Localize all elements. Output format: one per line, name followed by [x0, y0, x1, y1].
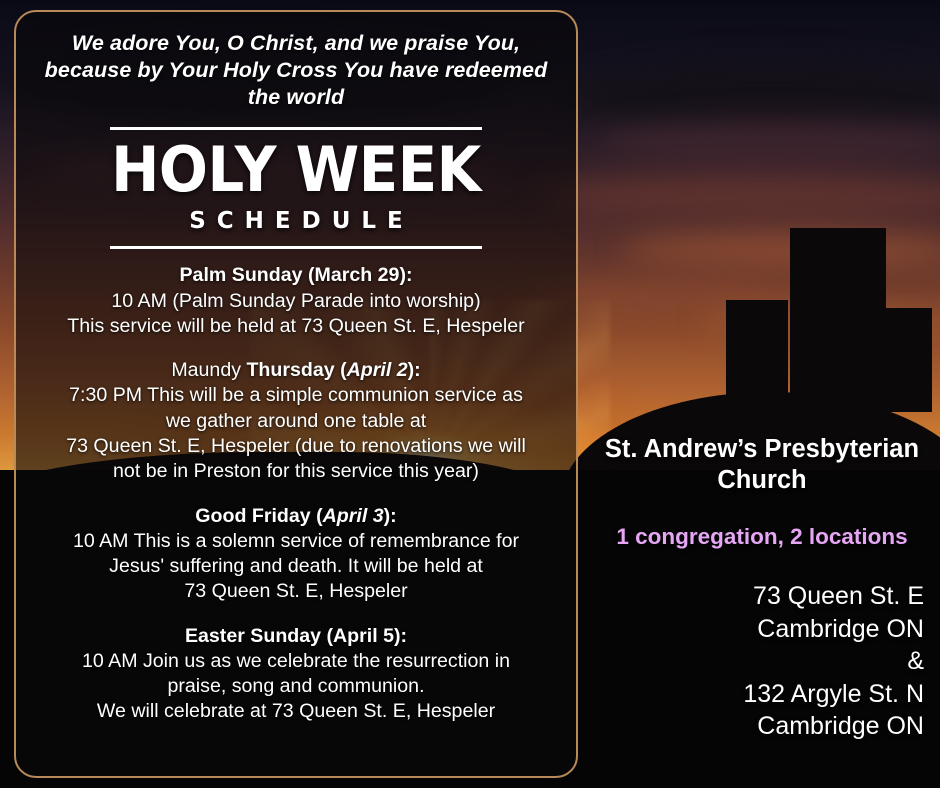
entry-heading-bold-end: ): [384, 505, 397, 527]
entry-heading-bold: Thursday ( [246, 359, 346, 381]
cross-center-icon [790, 228, 886, 408]
entry-line: 73 Queen St. E, Hespeler [32, 579, 560, 604]
page-subtitle: SCHEDULE [26, 208, 566, 234]
schedule-card: We adore You, O Christ, and we praise Yo… [14, 10, 578, 778]
church-name-line1: St. Andrew’s Presbyterian [592, 434, 932, 465]
schedule-entry-easter-sunday: Easter Sunday (April 5): 10 AM Join us a… [32, 624, 560, 725]
address-separator: & [592, 645, 924, 678]
entry-line: 7:30 PM This will be a simple communion … [32, 383, 560, 408]
entry-heading-italic: April 2 [347, 359, 408, 381]
entry-line: not be in Preston for this service this … [32, 459, 560, 484]
schedule-list: Palm Sunday (March 29): 10 AM (Palm Sund… [26, 263, 566, 724]
entry-heading-plain: Maundy [171, 359, 246, 381]
entry-heading: Maundy Thursday (April 2): [32, 358, 560, 383]
address-line: Cambridge ON [592, 613, 924, 646]
cross-right-icon [874, 308, 932, 412]
cross-left-icon [726, 300, 788, 412]
address-line: 132 Argyle St. N [592, 678, 924, 711]
entry-line: we gather around one table at [32, 409, 560, 434]
entry-heading-bold: Good Friday ( [195, 505, 322, 527]
church-info: St. Andrew’s Presbyterian Church 1 congr… [592, 434, 932, 743]
divider-bottom [110, 246, 482, 249]
entry-heading: Good Friday (April 3): [32, 504, 560, 529]
entry-heading-bold-end: ): [408, 359, 421, 381]
entry-line: 10 AM Join us as we celebrate the resurr… [32, 649, 560, 674]
divider-top [110, 127, 482, 130]
entry-line: 10 AM (Palm Sunday Parade into worship) [32, 289, 560, 314]
address-block: 73 Queen St. E Cambridge ON & 132 Argyle… [592, 580, 932, 743]
entry-line: praise, song and communion. [32, 674, 560, 699]
address-line: 73 Queen St. E [592, 580, 924, 613]
page-title: HOLY WEEK [45, 140, 547, 201]
schedule-entry-palm-sunday: Palm Sunday (March 29): 10 AM (Palm Sund… [32, 263, 560, 339]
cloud-shape [600, 120, 940, 166]
entry-line: 10 AM This is a solemn service of rememb… [32, 529, 560, 554]
entry-line: This service will be held at 73 Queen St… [32, 314, 560, 339]
opening-verse: We adore You, O Christ, and we praise Yo… [26, 30, 566, 111]
cloud-shape [620, 232, 940, 266]
address-line: Cambridge ON [592, 710, 924, 743]
entry-line: We will celebrate at 73 Queen St. E, Hes… [32, 699, 560, 724]
holy-week-poster: We adore You, O Christ, and we praise Yo… [0, 0, 940, 788]
entry-heading: Easter Sunday (April 5): [32, 624, 560, 649]
entry-heading-italic: April 3 [323, 505, 384, 527]
entry-heading: Palm Sunday (March 29): [32, 263, 560, 288]
church-name: St. Andrew’s Presbyterian Church [592, 434, 932, 496]
tagline: 1 congregation, 2 locations [592, 524, 932, 550]
entry-line: 73 Queen St. E, Hespeler (due to renovat… [32, 434, 560, 459]
schedule-entry-maundy-thursday: Maundy Thursday (April 2): 7:30 PM This … [32, 358, 560, 484]
schedule-entry-good-friday: Good Friday (April 3): 10 AM This is a s… [32, 504, 560, 605]
church-name-line2: Church [592, 465, 932, 496]
entry-line: Jesus' suffering and death. It will be h… [32, 554, 560, 579]
